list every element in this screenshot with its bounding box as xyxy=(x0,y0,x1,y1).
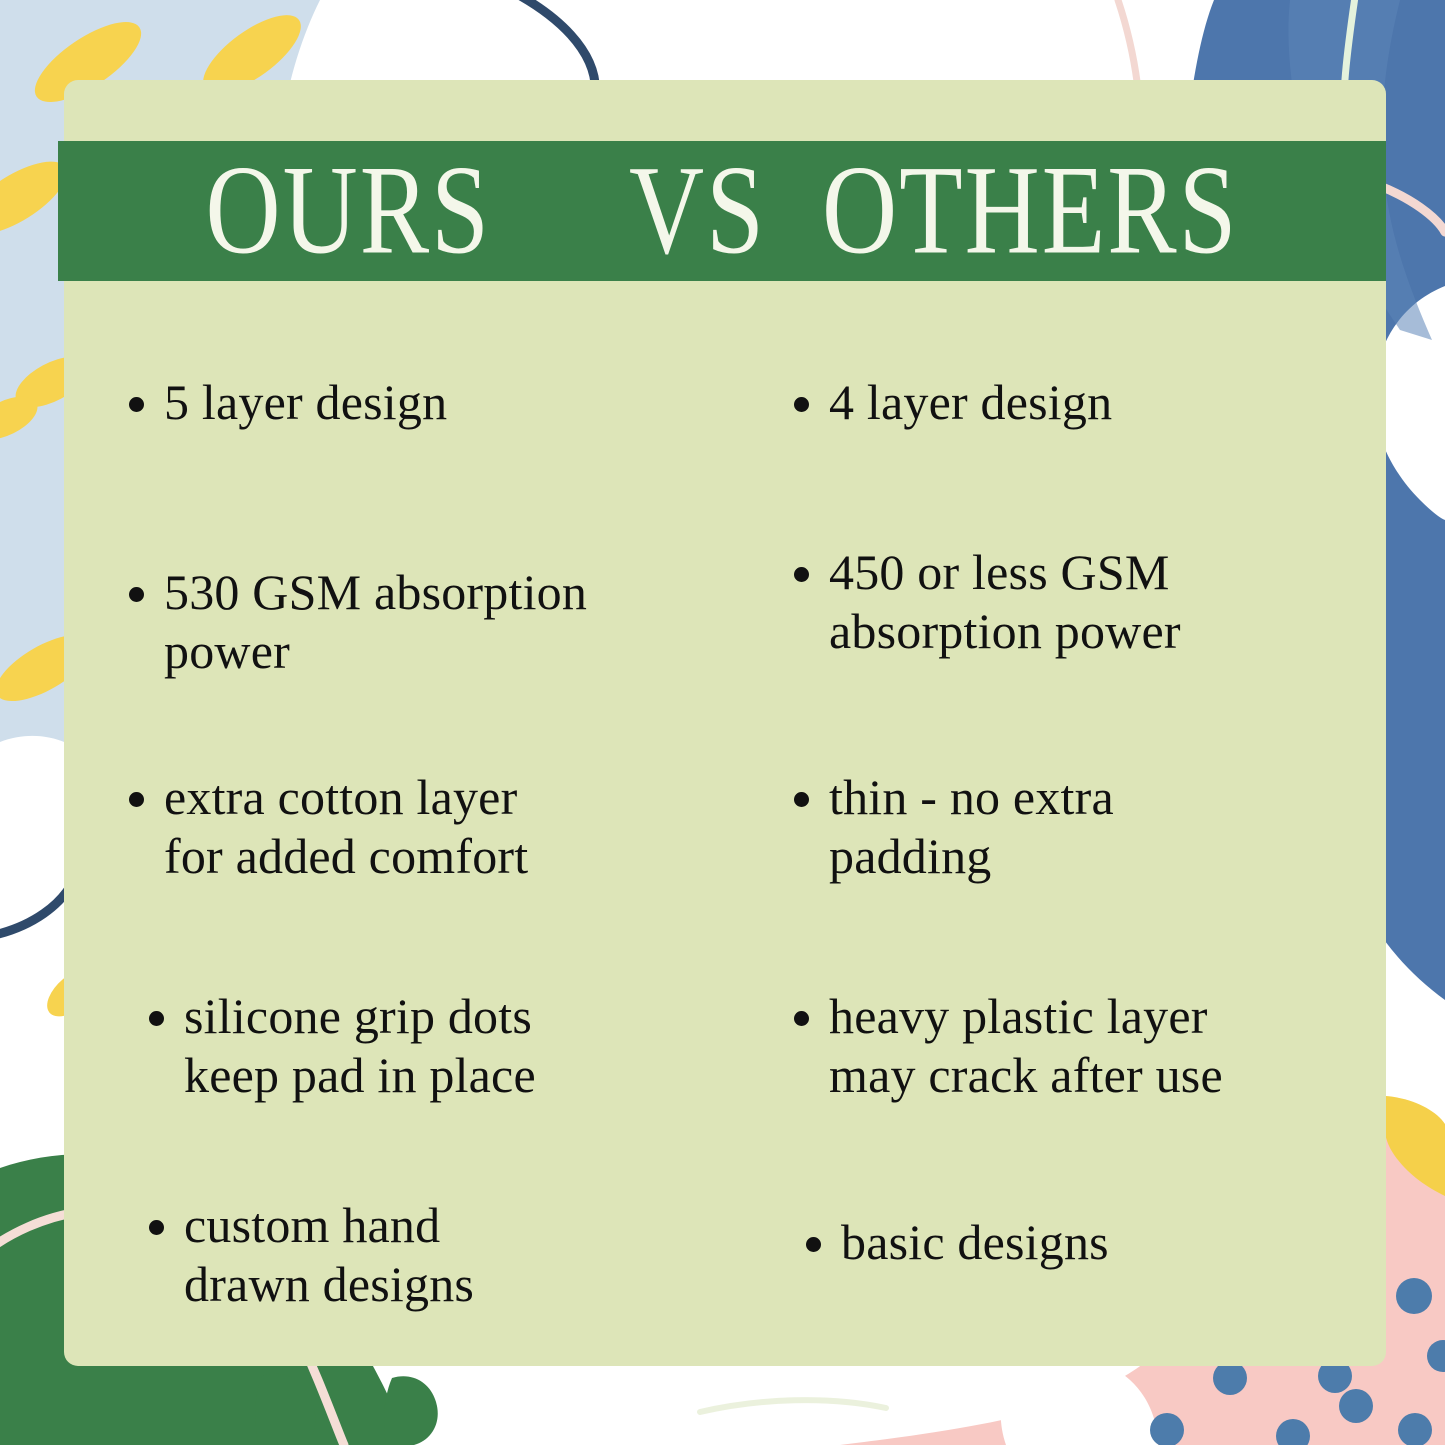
comparison-card: OURS VS OTHERS 5 layer design 530 GSM ab… xyxy=(64,80,1386,1366)
bullet-dot-icon xyxy=(149,1011,164,1026)
list-item-label: custom hand drawn designs xyxy=(184,1196,474,1314)
title-banner: OURS VS OTHERS xyxy=(58,141,1386,281)
list-item: 4 layer design xyxy=(794,373,1112,432)
bullet-dot-icon xyxy=(806,1237,821,1252)
column-others: 4 layer design 450 or less GSM absorptio… xyxy=(776,295,1386,1366)
list-item-label: extra cotton layer for added comfort xyxy=(164,768,528,886)
infographic-canvas: OURS VS OTHERS 5 layer design 530 GSM ab… xyxy=(0,0,1445,1445)
list-item-label: 450 or less GSM absorption power xyxy=(829,543,1181,661)
list-item: custom hand drawn designs xyxy=(149,1196,474,1314)
list-item: extra cotton layer for added comfort xyxy=(129,768,528,886)
column-ours: 5 layer design 530 GSM absorption power … xyxy=(64,295,776,1366)
page-title: OURS VS OTHERS xyxy=(206,148,1239,275)
comparison-columns: 5 layer design 530 GSM absorption power … xyxy=(64,295,1386,1366)
bullet-dot-icon xyxy=(129,587,144,602)
list-item: silicone grip dots keep pad in place xyxy=(149,987,536,1105)
list-item-label: silicone grip dots keep pad in place xyxy=(184,987,536,1105)
list-item-label: 5 layer design xyxy=(164,373,447,432)
list-item-label: 4 layer design xyxy=(829,373,1112,432)
list-item: basic designs xyxy=(806,1213,1109,1272)
list-item-label: 530 GSM absorption power xyxy=(164,563,587,681)
bullet-dot-icon xyxy=(129,397,144,412)
bullet-dot-icon xyxy=(129,792,144,807)
bullet-dot-icon xyxy=(794,397,809,412)
list-item: 530 GSM absorption power xyxy=(129,563,587,681)
list-item: thin - no extra padding xyxy=(794,768,1114,886)
list-item: heavy plastic layer may crack after use xyxy=(794,987,1223,1105)
bullet-dot-icon xyxy=(149,1220,164,1235)
list-item: 450 or less GSM absorption power xyxy=(794,543,1181,661)
bullet-dot-icon xyxy=(794,1011,809,1026)
list-item: 5 layer design xyxy=(129,373,447,432)
bullet-dot-icon xyxy=(794,792,809,807)
list-item-label: heavy plastic layer may crack after use xyxy=(829,987,1223,1105)
bullet-dot-icon xyxy=(794,567,809,582)
list-item-label: thin - no extra padding xyxy=(829,768,1114,886)
list-item-label: basic designs xyxy=(841,1213,1109,1272)
